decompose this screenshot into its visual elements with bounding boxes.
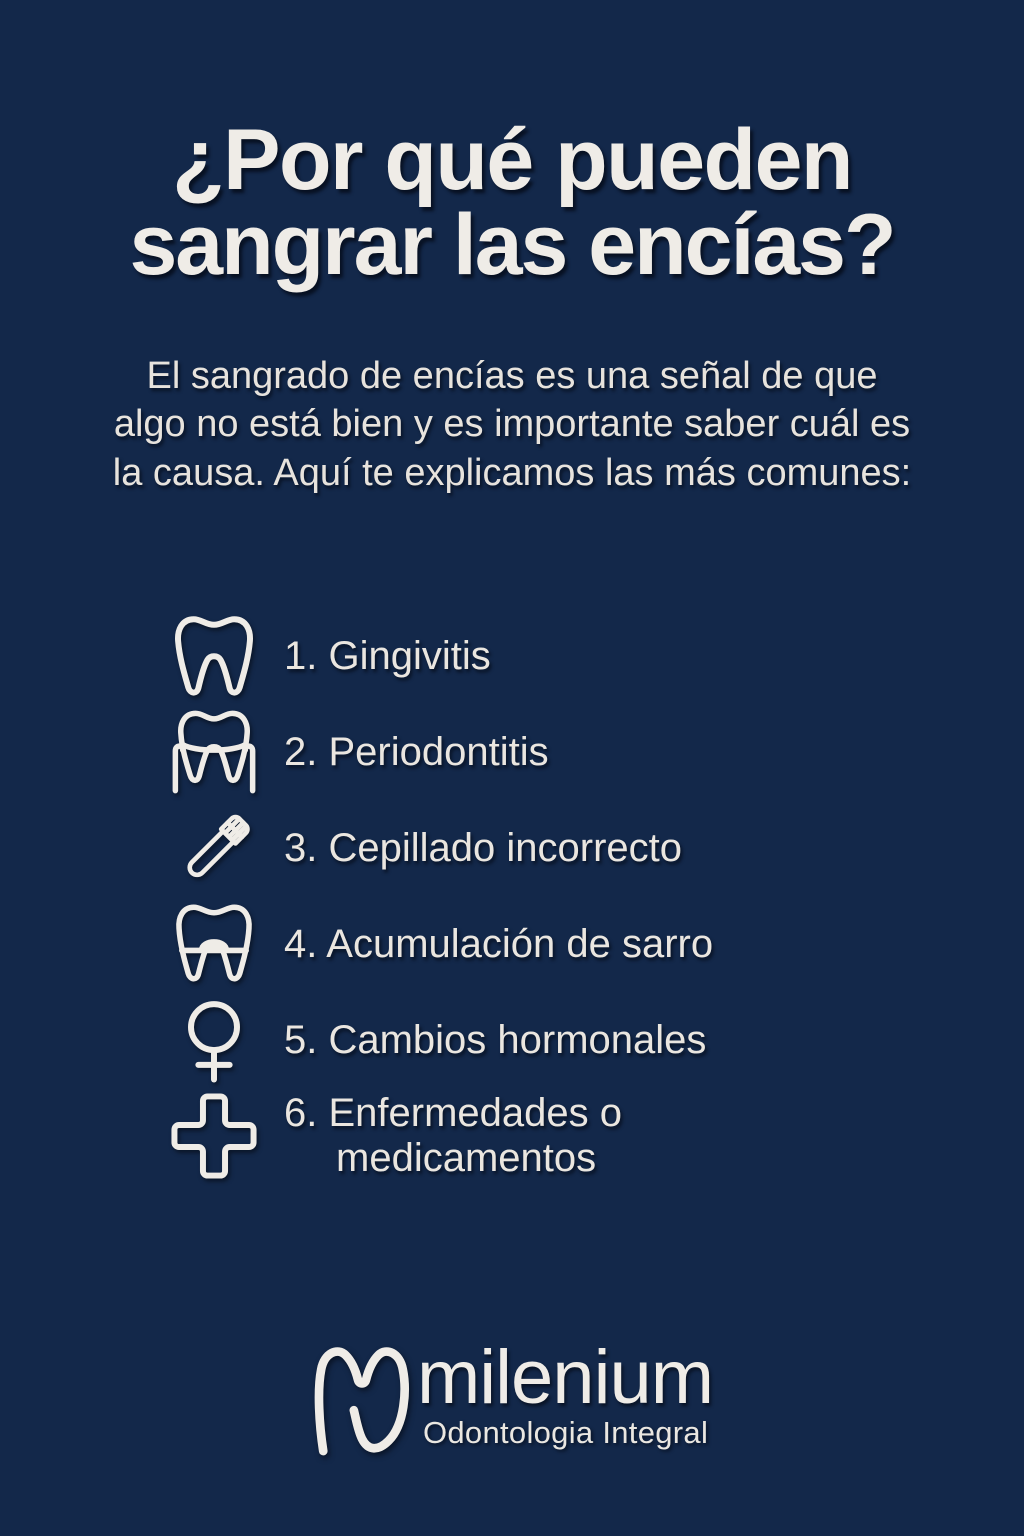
list-item-label: 5. Cambios hormonales — [284, 1018, 706, 1063]
list-item-label: 4. Acumulación de sarro — [284, 922, 713, 967]
list-item-label-line-2: medicamentos — [284, 1136, 622, 1181]
logo-name: milenium — [417, 1342, 713, 1414]
title-line-2: sangrar las encías? — [40, 203, 984, 288]
medical-cross-icon — [168, 1090, 260, 1182]
infographic-poster: ¿Por qué pueden sangrar las encías? El s… — [0, 0, 1024, 1536]
tooth-m-logo-icon — [311, 1336, 413, 1460]
list-item: 3. Cepillado incorrecto — [0, 800, 1024, 896]
logo-tagline: Odontologia Integral — [423, 1416, 708, 1450]
list-item: 1. Gingivitis — [0, 608, 1024, 704]
list-item-label: 2. Periodontitis — [284, 730, 549, 775]
list-item-label: 3. Cepillado incorrecto — [284, 826, 682, 871]
tooth-tartar-icon — [168, 898, 260, 990]
tooth-icon — [168, 610, 260, 702]
logo-text-block: milenium Odontologia Integral — [417, 1336, 713, 1450]
list-item: 4. Acumulación de sarro — [0, 896, 1024, 992]
causes-list: 1. Gingivitis 2. Periodontitis — [0, 608, 1024, 1184]
brand-logo: milenium Odontologia Integral — [0, 1336, 1024, 1460]
subtitle-text: El sangrado de encías es una señal de qu… — [112, 352, 912, 497]
list-item: 2. Periodontitis — [0, 704, 1024, 800]
list-item-label: 6. Enfermedades omedicamentos — [284, 1091, 622, 1181]
list-item: 6. Enfermedades omedicamentos — [0, 1088, 1024, 1184]
page-title: ¿Por qué pueden sangrar las encías? — [0, 118, 1024, 288]
list-item-label: 1. Gingivitis — [284, 634, 491, 679]
tooth-receding-gums-icon — [168, 706, 260, 798]
list-item-label-line-1: 6. Enfermedades o — [284, 1091, 622, 1135]
toothbrush-icon — [168, 802, 260, 894]
list-item: 5. Cambios hormonales — [0, 992, 1024, 1088]
venus-symbol-icon — [168, 994, 260, 1086]
title-line-1: ¿Por qué pueden — [40, 118, 984, 203]
